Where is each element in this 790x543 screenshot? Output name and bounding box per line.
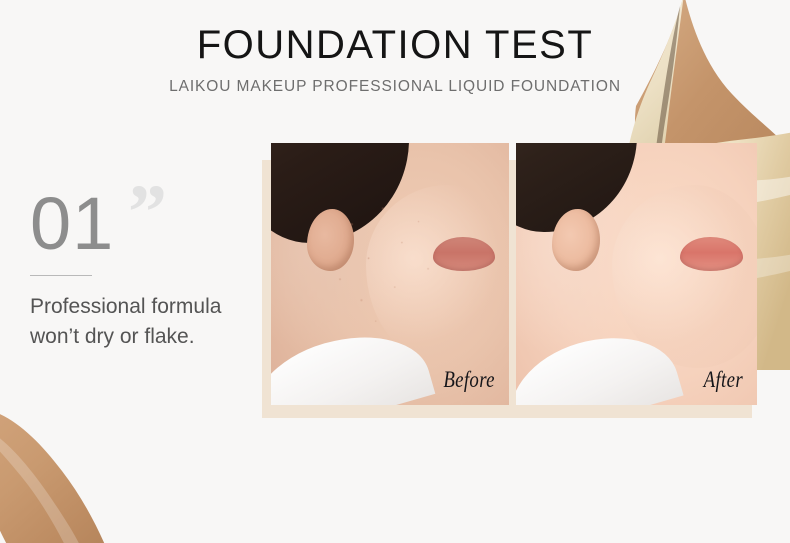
feature-number: 01 (30, 182, 114, 265)
after-label: After (704, 367, 743, 393)
quote-mark-icon: ” (128, 173, 167, 251)
before-after-comparison: Before After (271, 143, 757, 405)
page-subtitle: LAIKOU MAKEUP PROFESSIONAL LIQUID FOUNDA… (0, 78, 790, 96)
foundation-streak-icon (0, 393, 180, 543)
feature-caption: Professional formula won’t dry or flake. (30, 292, 265, 352)
before-photo: Before (271, 143, 509, 405)
feature-caption-line-1: Professional formula (30, 292, 265, 322)
after-photo: After (516, 143, 757, 405)
promo-banner: FOUNDATION TEST LAIKOU MAKEUP PROFESSION… (0, 0, 790, 543)
header: FOUNDATION TEST LAIKOU MAKEUP PROFESSION… (0, 22, 790, 96)
feature-caption-line-2: won’t dry or flake. (30, 322, 265, 352)
divider (30, 275, 92, 276)
feature-block: 01 ” Professional formula won’t dry or f… (30, 185, 265, 352)
after-lips (680, 237, 743, 271)
before-label: Before (443, 367, 495, 393)
feature-number-row: 01 ” (30, 185, 265, 267)
page-title: FOUNDATION TEST (0, 22, 790, 68)
